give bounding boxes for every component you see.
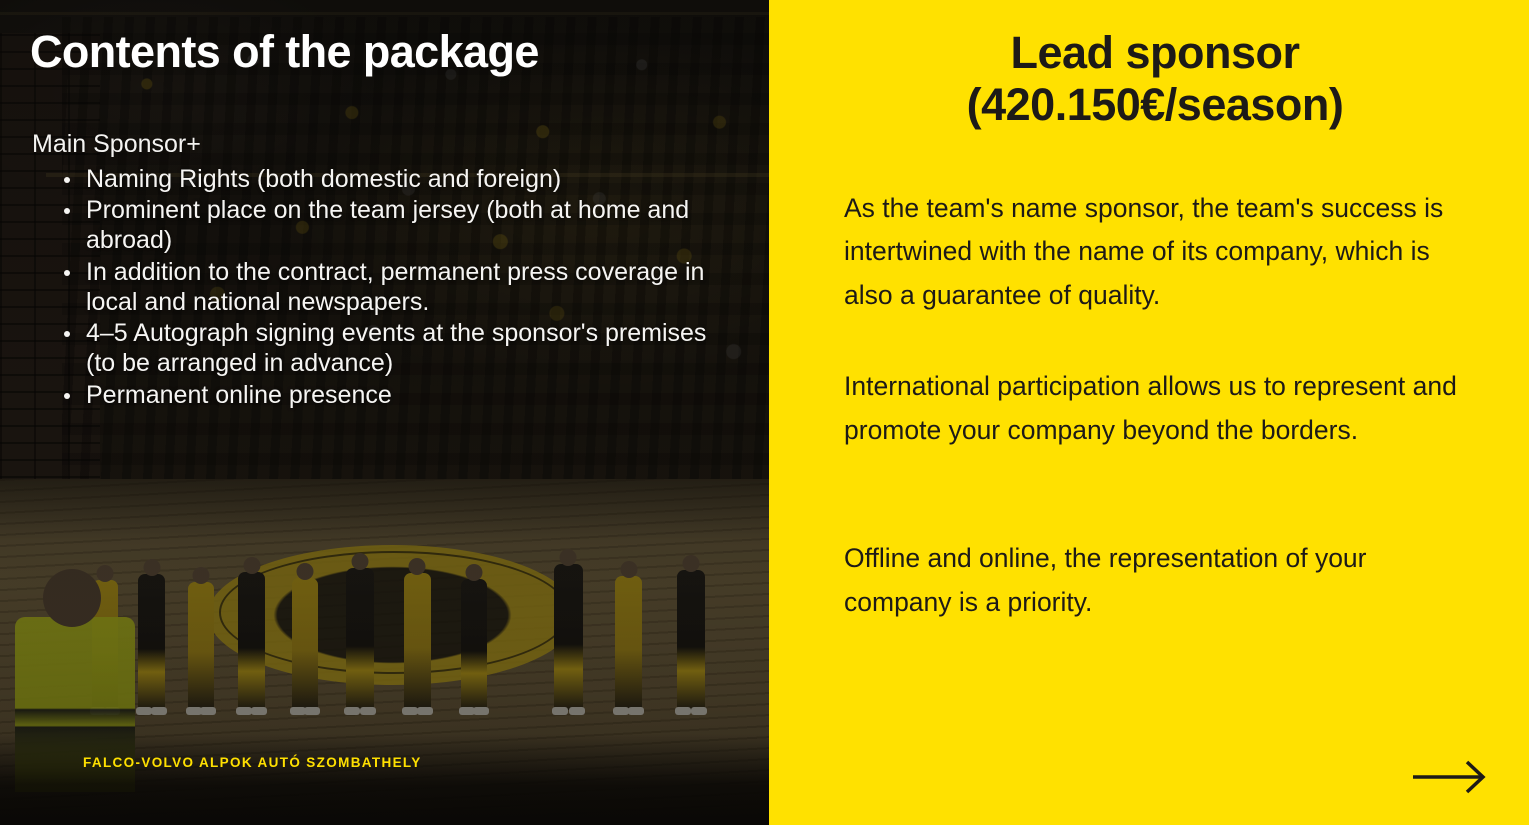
list-item: Prominent place on the team jersey (both… (62, 195, 739, 256)
list-item: Naming Rights (both domestic and foreign… (62, 164, 739, 194)
right-yellow-panel: Lead sponsor (420.150€/season) As the te… (769, 0, 1529, 825)
sponsor-tier-title: Lead sponsor (420.150€/season) (831, 27, 1479, 131)
team-caption: FALCO-VOLVO ALPOK AUTÓ SZOMBATHELY (83, 755, 422, 770)
paragraph: As the team's name sponsor, the team's s… (844, 187, 1469, 319)
sponsor-tier-price: (420.150€/season) (831, 79, 1479, 131)
arrow-right-icon[interactable] (1411, 759, 1489, 795)
main-sponsor-label: Main Sponsor+ (32, 129, 739, 160)
left-content: Contents of the package Main Sponsor+ Na… (0, 0, 769, 825)
list-item: Permanent online presence (62, 380, 739, 410)
left-photo-panel: Contents of the package Main Sponsor+ Na… (0, 0, 769, 825)
list-item: 4–5 Autograph signing events at the spon… (62, 318, 739, 379)
package-contents-list: Naming Rights (both domestic and foreign… (30, 164, 739, 410)
paragraph: Offline and online, the representation o… (844, 537, 1469, 625)
list-item: In addition to the contract, permanent p… (62, 257, 739, 318)
paragraph: International participation allows us to… (844, 365, 1469, 453)
sponsorship-slide: Contents of the package Main Sponsor+ Na… (0, 0, 1529, 825)
sponsor-description: As the team's name sponsor, the team's s… (831, 187, 1479, 626)
sponsor-tier-name: Lead sponsor (831, 27, 1479, 79)
page-title: Contents of the package (30, 27, 739, 77)
